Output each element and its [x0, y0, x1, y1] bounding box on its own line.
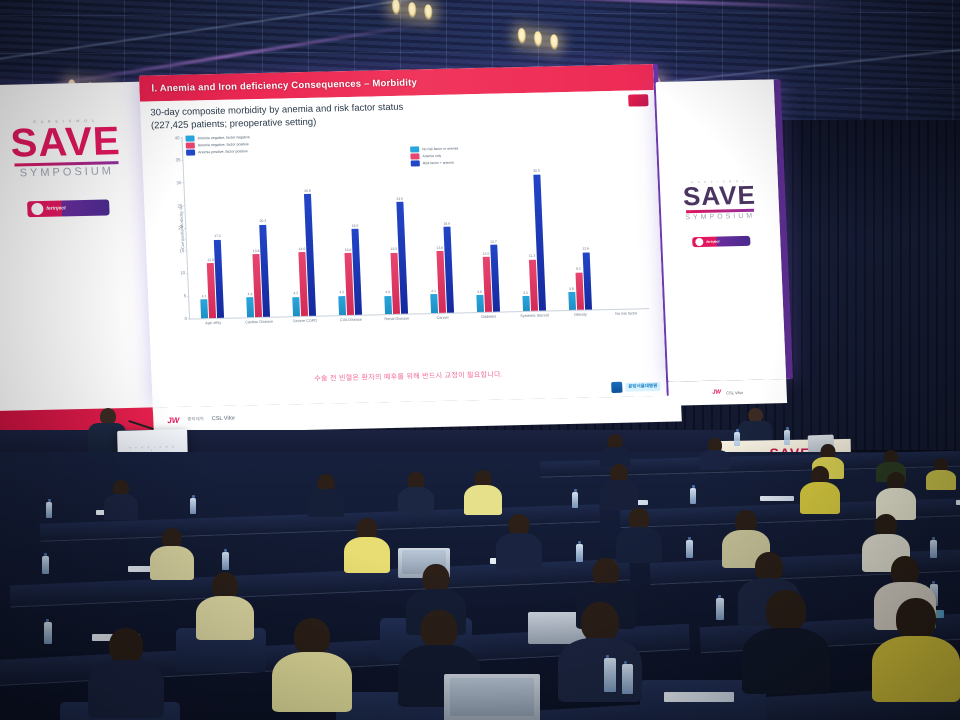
- audience-member: [272, 618, 352, 706]
- audience-member: [464, 470, 502, 512]
- water-bottle: [42, 556, 49, 574]
- slide-header-text: Ⅰ. Anemia and Iron deficiency Consequenc…: [151, 77, 417, 94]
- chart-bar-group: 4.214.026.8Severe COPD: [274, 134, 327, 316]
- x-axis-tick-label: Severe COPD: [286, 318, 324, 324]
- chart-bar-group: 3.211.330.0Systemic Steroid: [504, 129, 557, 311]
- save-wordmark: SAVE: [682, 183, 756, 209]
- audience-member: [196, 572, 254, 634]
- audience-member: [800, 466, 840, 510]
- chart-bar-value-label: 4.2: [339, 290, 344, 294]
- audience-head: [421, 610, 458, 649]
- chart-legend-secondary: No risk factor or anemiaAnemia onlyRisk …: [410, 145, 459, 167]
- audience-head: [109, 628, 143, 664]
- legend-swatch: [411, 160, 420, 166]
- slide-body: 30-day composite morbidity by anemia and…: [140, 90, 667, 407]
- chart-bar-value-label: 24.6: [396, 197, 403, 201]
- y-axis-tick: 35: [166, 158, 180, 163]
- chart-bar-value-label: 12.0: [207, 258, 214, 262]
- legend-item: No risk factor or anemia: [410, 145, 458, 152]
- chart-bar: 4.0: [384, 296, 392, 314]
- chart-bar: 8.2: [575, 272, 584, 309]
- chart-bar-value-label: 4.0: [385, 290, 390, 294]
- audience-body: [88, 660, 164, 718]
- audience-body: [926, 470, 956, 490]
- audience-member: [700, 438, 730, 468]
- laptop-screen: [450, 678, 534, 716]
- audience-body: [600, 480, 638, 510]
- chart-bar-value-label: 3.6: [477, 290, 482, 294]
- audience-member: [926, 458, 956, 488]
- x-axis-tick-label: Cancer: [424, 315, 462, 321]
- projection-screen-assembly: R A R E I S M O L SAVE SYMPOSIUM ferinje…: [0, 59, 803, 423]
- legend-swatch: [410, 146, 419, 152]
- chart-bar-value-label: 13.6: [345, 247, 352, 251]
- chart-bar-group: No risk factor: [596, 127, 649, 309]
- water-bottle: [572, 492, 578, 508]
- y-axis-tick: 30: [167, 180, 181, 185]
- ferinject-label: ferinject: [706, 239, 719, 243]
- chart-bar-value-label: 8.2: [576, 267, 581, 271]
- audience-member: [496, 514, 542, 564]
- audience-member: [600, 464, 638, 506]
- chart-bar-value-label: 12.0: [483, 252, 490, 256]
- sponsor-jw-logo: JW: [712, 390, 721, 396]
- water-bottle: [604, 658, 616, 692]
- chart-bar-value-label: 4.3: [248, 292, 253, 296]
- water-bottle: [716, 598, 724, 620]
- legend-label: No risk factor or anemia: [422, 146, 458, 151]
- chart-bar: 14.7: [490, 245, 500, 312]
- y-axis-tick: 15: [170, 248, 184, 253]
- chart-bar-value-label: 4.1: [431, 289, 436, 293]
- water-bottle: [190, 498, 196, 514]
- legend-item: Anemia only: [410, 152, 458, 159]
- y-axis-tick: 25: [168, 203, 182, 208]
- audience-body: [308, 489, 344, 517]
- audience-body: [104, 494, 138, 520]
- audience-body: [496, 533, 542, 569]
- audience-member: [616, 508, 662, 558]
- legend-swatch: [186, 149, 195, 155]
- hospital-badge: 분당서울대병원: [625, 381, 660, 391]
- chart-bar-value-label: 12.6: [582, 247, 589, 251]
- chart-bar-value-label: 13.5: [391, 247, 398, 251]
- chart-bar-value-label: 4.1: [202, 294, 207, 298]
- audience-head: [294, 618, 330, 656]
- chart-bar-value-label: 30.0: [533, 169, 540, 173]
- audience-member: [344, 518, 390, 568]
- y-axis-tick: 10: [171, 271, 185, 276]
- x-axis-tick-label: Obesity: [561, 312, 599, 318]
- chart-bar: 4.1: [201, 299, 209, 318]
- chart-bar: 12.6: [582, 252, 591, 309]
- chart-bar-value-label: 14.0: [299, 247, 306, 251]
- chart-bar-value-label: 3.8: [569, 287, 574, 291]
- audience-body: [742, 628, 830, 694]
- audience-body: [398, 487, 434, 515]
- audience-member: [600, 434, 630, 464]
- ferinject-dot-icon: [695, 238, 703, 246]
- audience-body: [872, 636, 960, 702]
- ferinject-dot-icon: [31, 203, 44, 215]
- right-panel-sponsor-strip: JW CSL Vifor: [668, 379, 787, 406]
- audience-member: [88, 628, 164, 712]
- audience-head: [766, 590, 806, 632]
- chart-bar-value-label: 26.8: [304, 189, 311, 193]
- composite-morbidity-bar-chart: Anemia negative, factor negativeAnemia n…: [151, 125, 654, 350]
- chart-bar-value-label: 11.3: [529, 254, 536, 258]
- legend-swatch: [185, 135, 194, 141]
- ferinject-logo-right: ferinject: [692, 236, 750, 247]
- water-bottle: [690, 488, 696, 504]
- audience-body: [344, 537, 390, 573]
- chart-bar-value-label: 13.6: [436, 245, 443, 249]
- water-bottle: [734, 432, 740, 446]
- water-bottle: [222, 552, 229, 570]
- x-axis-tick-label: Age ≥65y: [194, 320, 232, 326]
- legend-label: Anemia negative, factor positive: [198, 142, 249, 147]
- water-bottle: [784, 430, 790, 445]
- legend-swatch: [186, 142, 195, 148]
- x-axis-tick-label: Cardiac Disease: [240, 319, 278, 325]
- legend-label: Risk factor + anemia: [423, 160, 454, 165]
- right-side-screen: R A R E I S M O L SAVE SYMPOSIUM ferinje…: [656, 79, 794, 382]
- chart-bar-value-label: 20.3: [260, 219, 267, 223]
- legend-item: Risk factor + anemia: [411, 159, 459, 166]
- legend-label: Anemia only: [422, 153, 441, 157]
- audience-member: [104, 480, 138, 518]
- sponsor-jw-subtext: 중외제약: [187, 416, 204, 422]
- chart-legend-primary: Anemia negative, factor negativeAnemia n…: [185, 134, 250, 156]
- legend-label: Anemia negative, factor negative: [197, 135, 250, 140]
- chart-bar-value-label: 18.9: [443, 221, 450, 225]
- audience-member: [308, 474, 344, 514]
- water-bottle: [44, 622, 52, 644]
- x-axis-tick-label: Diabetes: [470, 314, 508, 320]
- audience-member: [398, 472, 434, 512]
- chart-bar-value-label: 13.8: [253, 249, 260, 253]
- audience-body: [150, 546, 194, 580]
- sponsor-csl-vifor-logo: CSL Vifor: [212, 416, 235, 423]
- save-symposium-text: SYMPOSIUM: [19, 165, 114, 179]
- chart-bar-value-label: 3.2: [523, 291, 528, 295]
- audience-body: [800, 482, 840, 514]
- save-symposium-text: SYMPOSIUM: [685, 212, 755, 221]
- chart-bar-group: 4.313.820.3Cardiac Disease: [228, 135, 281, 317]
- slide-corner-logo: [628, 94, 649, 106]
- chart-bar: 17.2: [214, 240, 224, 318]
- ferinject-label: ferinject: [46, 205, 66, 211]
- desk-handout: [664, 692, 734, 702]
- chart-bar-group: 4.213.618.9CVA Disease: [320, 133, 373, 315]
- chart-bar: 4.1: [430, 294, 438, 313]
- sponsor-csl-vifor-logo: CSL Vifor: [726, 390, 743, 395]
- chart-bar-value-label: 4.2: [293, 291, 298, 295]
- legend-swatch: [410, 153, 419, 159]
- water-bottle: [46, 502, 52, 518]
- chart-bar: 3.6: [476, 295, 484, 311]
- ferinject-logo-left: ferinject: [27, 199, 110, 217]
- audience-member: [872, 598, 960, 694]
- chart-bar-group: 4.112.017.2Age ≥65y: [182, 136, 235, 318]
- audience-member: [150, 528, 194, 576]
- x-axis-tick-label: Systemic Steroid: [515, 313, 553, 319]
- audience-body: [196, 596, 254, 640]
- chart-bar-value-label: 18.9: [352, 223, 359, 227]
- chart-bar: 3.8: [568, 292, 576, 309]
- audience-member: [742, 590, 830, 686]
- legend-label: Anemia positive, factor positive: [198, 149, 248, 154]
- sponsor-jw-logo: JW: [167, 415, 179, 424]
- chart-bar: 4.3: [247, 297, 255, 317]
- audience-seating-area: [0, 452, 960, 720]
- legend-item: Anemia positive, factor positive: [186, 148, 251, 155]
- chart-bar: 3.2: [522, 296, 530, 311]
- desk-handout: [956, 500, 960, 505]
- audience-head: [896, 598, 936, 640]
- water-bottle: [686, 540, 693, 558]
- audience-body: [700, 450, 730, 470]
- chart-bar-value-label: 14.7: [490, 239, 497, 243]
- chart-bar: 4.2: [338, 296, 346, 315]
- y-axis-tick: 5: [172, 293, 186, 298]
- save-logo-right: R A R E I S M O L SAVE SYMPOSIUM: [660, 179, 780, 221]
- x-axis-tick-label: CVA Disease: [332, 317, 370, 323]
- hospital-mark-icon: [611, 381, 622, 392]
- desk-handout: [760, 496, 794, 501]
- main-projection-slide: Ⅰ. Anemia and Iron deficiency Consequenc…: [139, 64, 672, 407]
- audience-body: [272, 652, 352, 712]
- chart-bar: 4.2: [293, 297, 301, 316]
- audience-head: [581, 602, 619, 642]
- y-axis-tick: 0: [173, 316, 187, 321]
- audience-member: [876, 472, 916, 516]
- chart-bar-group: 3.612.014.7Diabetes: [458, 130, 511, 312]
- left-side-screen: R A R E I S M O L SAVE SYMPOSIUM ferinje…: [0, 82, 155, 415]
- x-axis-tick-label: Renal Disease: [378, 316, 416, 322]
- audience-body: [464, 485, 502, 515]
- water-bottle: [622, 664, 633, 694]
- y-axis-tick: 20: [169, 225, 183, 230]
- x-axis-tick-label: No risk factor: [607, 311, 645, 317]
- save-wordmark: SAVE: [10, 122, 122, 162]
- save-logo-left: R A R E I S M O L SAVE SYMPOSIUM: [0, 118, 145, 180]
- y-axis-tick: 40: [165, 135, 179, 140]
- conference-photo: R A R E I S M O L SAVE SYMPOSIUM ferinje…: [0, 0, 960, 720]
- chart-bar-value-label: 17.2: [214, 234, 221, 238]
- chart-bar-group: 3.88.212.6Obesity: [550, 128, 603, 310]
